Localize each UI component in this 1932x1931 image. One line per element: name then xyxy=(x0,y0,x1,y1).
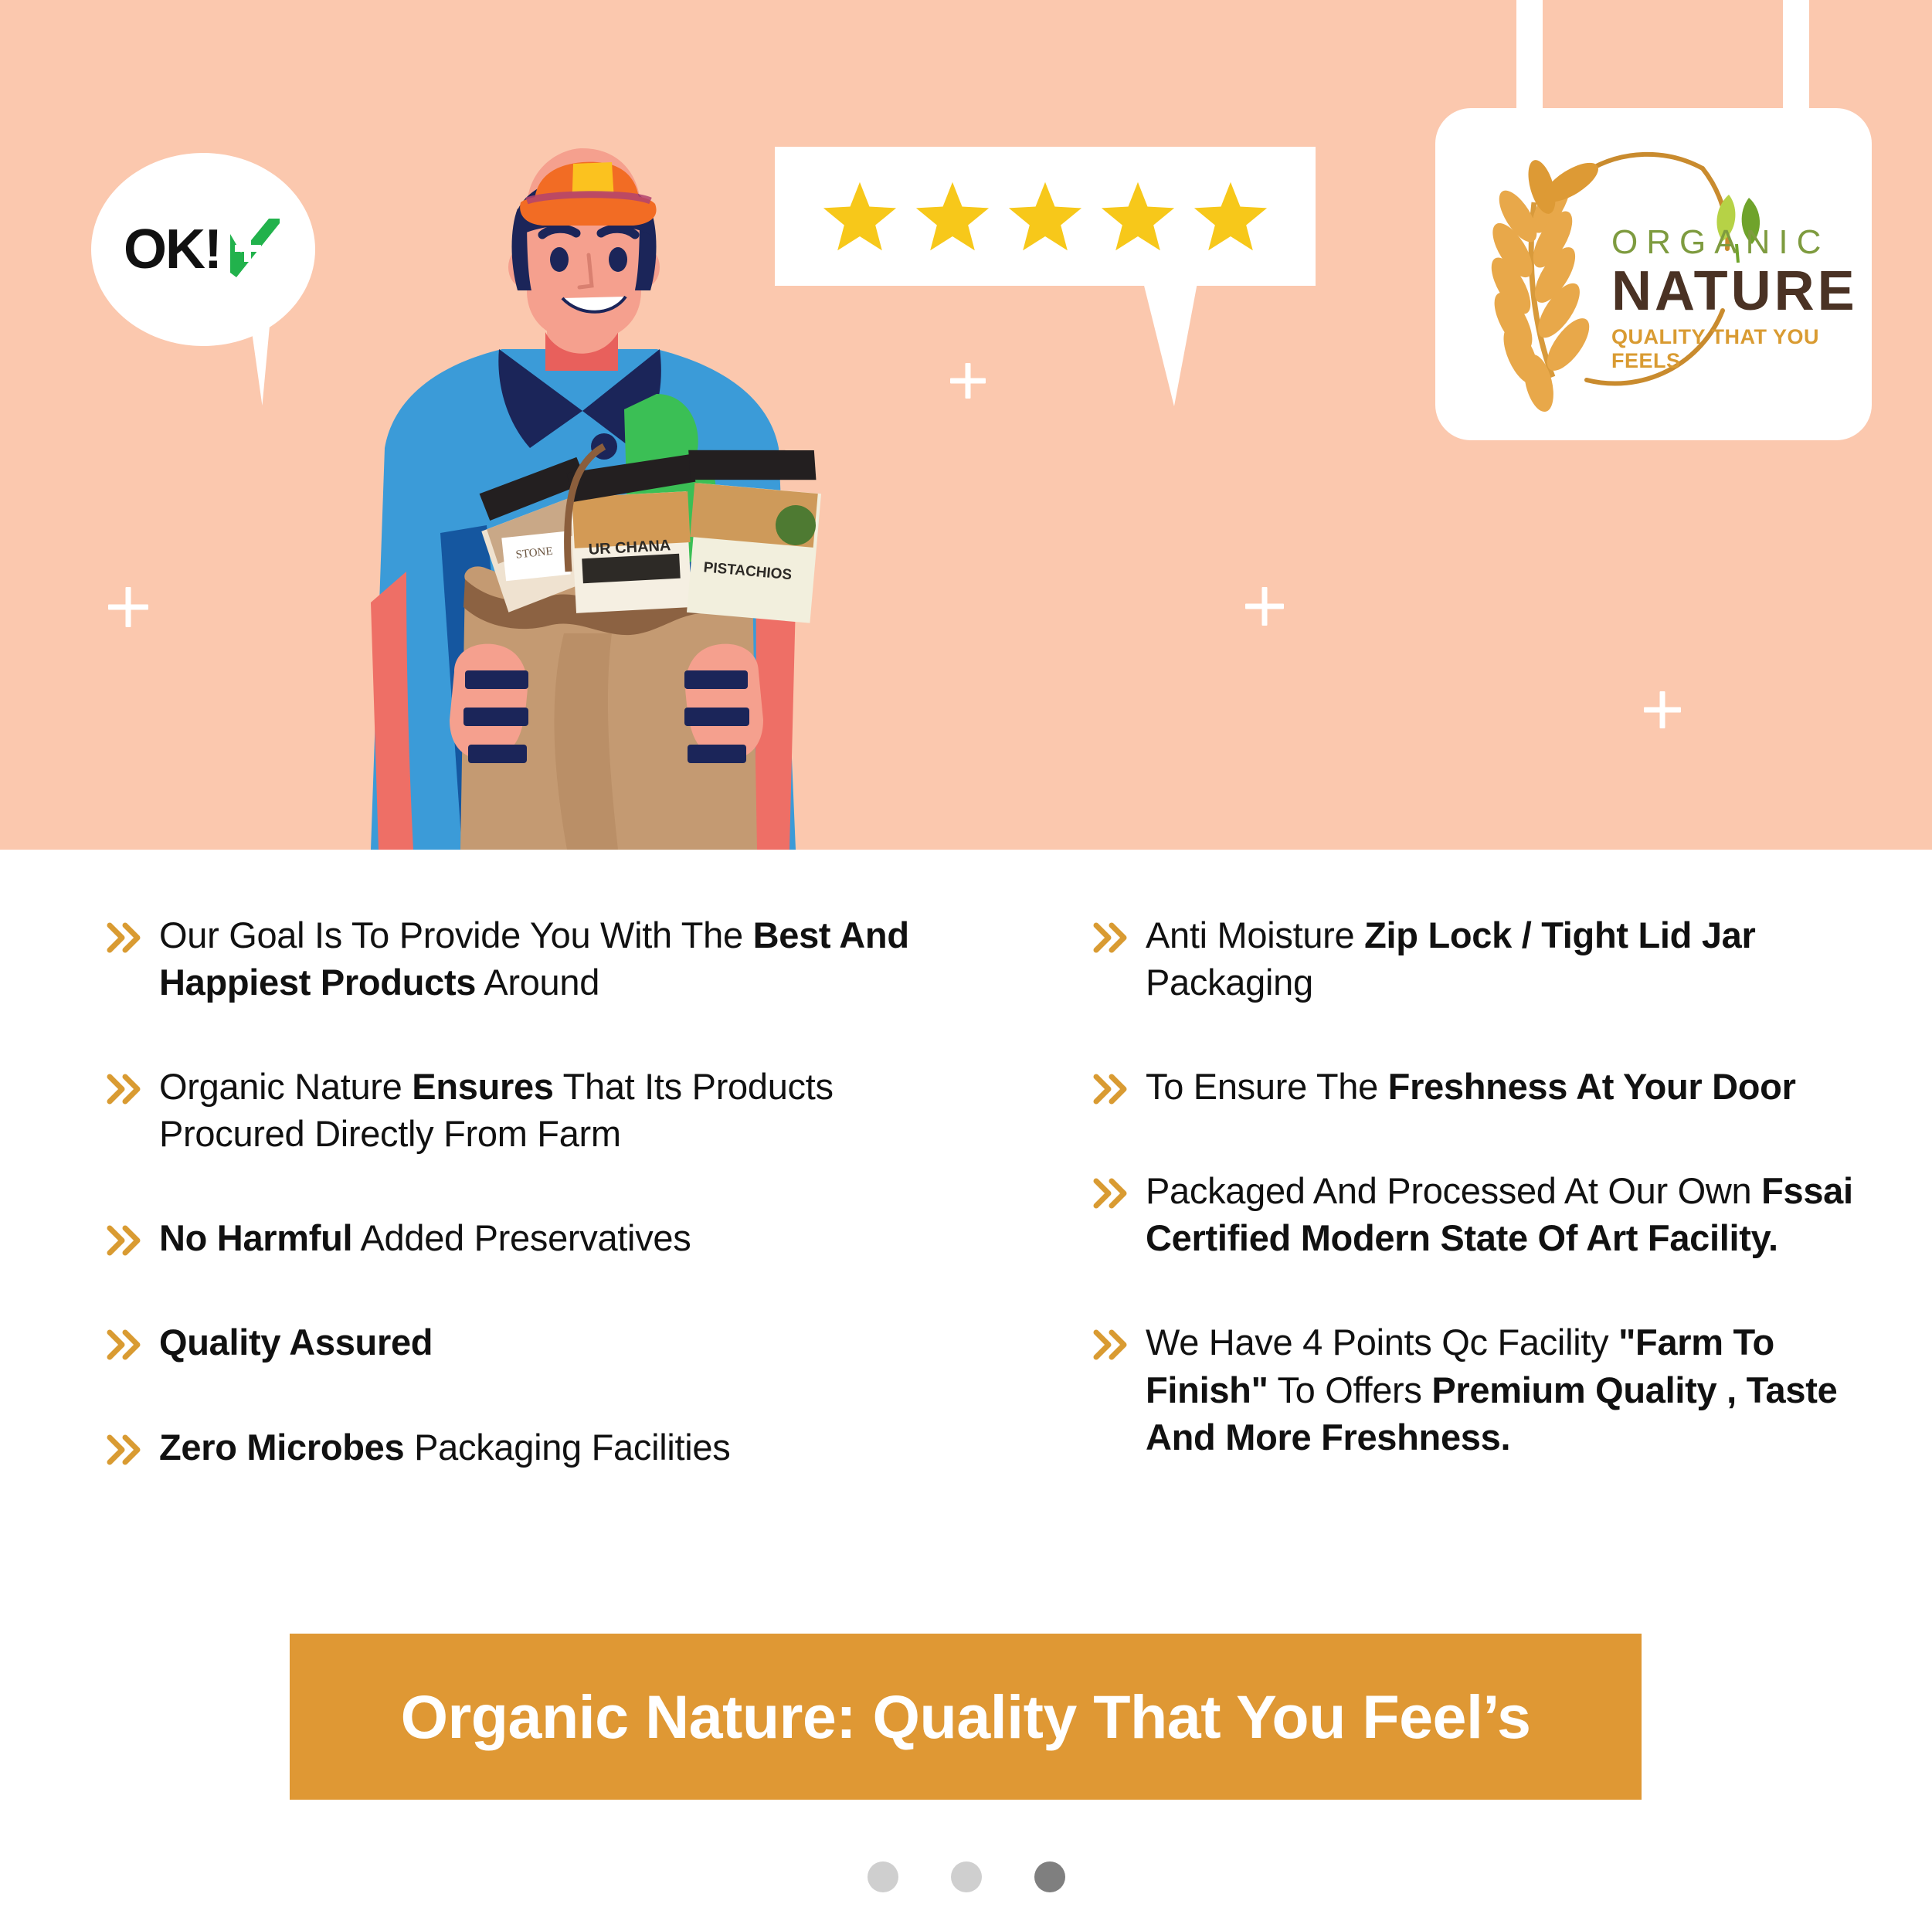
feature-bullet: Zero Microbes Packaging Facilities xyxy=(107,1424,919,1471)
decor-plus-icon xyxy=(950,363,986,399)
decor-plus-icon xyxy=(1644,691,1681,728)
ok-label: OK! xyxy=(124,218,221,281)
tagline-banner: Organic Nature: Quality That You Feel’s xyxy=(290,1634,1642,1800)
feature-bullet-text: No Harmful Added Preservatives xyxy=(159,1214,691,1261)
feature-bullet-text: Our Goal Is To Provide You With The Best… xyxy=(159,911,919,1006)
feature-bullet: Organic Nature Ensures That Its Products… xyxy=(107,1063,919,1157)
double-chevron-right-icon xyxy=(1093,1167,1129,1209)
feature-bullet: We Have 4 Points Qc Facility "Farm To Fi… xyxy=(1093,1318,1886,1460)
rating-bubble-tail xyxy=(1143,283,1228,406)
features-right-column: Anti Moisture Zip Lock / Tight Lid Jar P… xyxy=(966,911,1932,1528)
logo-organic-text: ORGANIC xyxy=(1611,226,1866,260)
star-icon xyxy=(915,180,990,253)
carousel-dot-3[interactable] xyxy=(1034,1861,1065,1892)
double-chevron-right-icon xyxy=(107,1214,142,1256)
carousel-dots[interactable] xyxy=(0,1861,1932,1892)
feature-bullet-text: Packaged And Processed At Our Own Fssai … xyxy=(1146,1167,1886,1261)
decor-plus-icon xyxy=(108,587,148,627)
feature-bullet: Quality Assured xyxy=(107,1318,919,1366)
double-chevron-right-icon xyxy=(1093,1063,1129,1105)
hero-banner: OK! xyxy=(0,0,1932,850)
feature-bullet-text: To Ensure The Freshness At Your Door xyxy=(1146,1063,1796,1110)
feature-bullet: To Ensure The Freshness At Your Door xyxy=(1093,1063,1886,1110)
feature-bullet-text: Anti Moisture Zip Lock / Tight Lid Jar P… xyxy=(1146,911,1886,1006)
tagline-banner-text: Organic Nature: Quality That You Feel’s xyxy=(401,1682,1531,1753)
double-chevron-right-icon xyxy=(107,1318,142,1360)
decor-plus-icon xyxy=(1245,587,1284,626)
double-chevron-right-icon xyxy=(1093,911,1129,953)
features-left-column: Our Goal Is To Provide You With The Best… xyxy=(0,911,966,1528)
organic-nature-logo-card: ORGANIC NATURE QUALITY THAT YOU FEELS xyxy=(1435,108,1872,440)
feature-bullet: Our Goal Is To Provide You With The Best… xyxy=(107,911,919,1006)
double-chevron-right-icon xyxy=(1093,1318,1129,1360)
product-feature-slide: OK! xyxy=(0,0,1932,1931)
carousel-dot-1[interactable] xyxy=(868,1861,898,1892)
double-chevron-right-icon xyxy=(107,1424,142,1465)
star-icon xyxy=(1100,180,1176,253)
feature-bullet-text: We Have 4 Points Qc Facility "Farm To Fi… xyxy=(1146,1318,1886,1460)
feature-bullet-text: Zero Microbes Packaging Facilities xyxy=(159,1424,730,1471)
double-chevron-right-icon xyxy=(107,911,142,953)
star-icon xyxy=(1007,180,1083,253)
logo-nature-text: NATURE xyxy=(1611,263,1866,321)
double-chevron-right-icon xyxy=(107,1063,142,1105)
carousel-dot-2[interactable] xyxy=(951,1861,982,1892)
feature-bullet: No Harmful Added Preservatives xyxy=(107,1214,919,1261)
character-illustration: STONE UR CHANA PISTACHIOS xyxy=(255,139,919,850)
feature-bullet-text: Organic Nature Ensures That Its Products… xyxy=(159,1063,919,1157)
feature-bullet: Anti Moisture Zip Lock / Tight Lid Jar P… xyxy=(1093,911,1886,1006)
feature-bullet: Packaged And Processed At Our Own Fssai … xyxy=(1093,1167,1886,1261)
feature-bullet-text: Quality Assured xyxy=(159,1318,433,1366)
star-icon xyxy=(1193,180,1268,253)
logo-tagline: QUALITY THAT YOU FEELS xyxy=(1611,325,1866,373)
